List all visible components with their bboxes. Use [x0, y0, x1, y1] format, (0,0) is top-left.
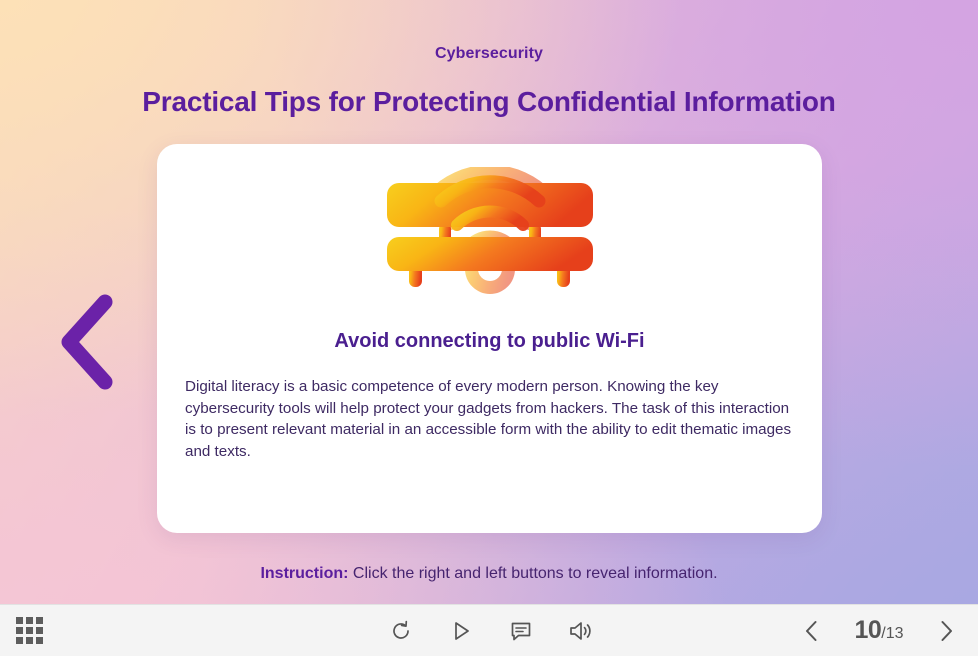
next-slide-button[interactable] [924, 611, 968, 651]
volume-button[interactable] [561, 611, 601, 651]
card-illustration [157, 166, 822, 296]
grid-menu-icon [16, 617, 43, 644]
chevron-left-small-icon [799, 618, 825, 644]
total-pages-number: /13 [881, 625, 903, 642]
instruction-text: Click the right and left buttons to reve… [348, 565, 717, 582]
eyebrow-label: Cybersecurity [0, 45, 978, 63]
card-title: Avoid connecting to public Wi-Fi [157, 330, 822, 353]
replay-button[interactable] [381, 611, 421, 651]
notes-button[interactable] [501, 611, 541, 651]
instruction-line: Instruction: Click the right and left bu… [0, 565, 978, 583]
player-toolbar: 10/13 [0, 604, 978, 656]
public-wifi-bench-icon [379, 167, 601, 295]
content-card: Avoid connecting to public Wi-Fi Digital… [157, 144, 822, 533]
slides-menu-button[interactable] [12, 614, 46, 648]
card-body-text: Digital literacy is a basic competence o… [185, 376, 797, 462]
playback-controls [381, 611, 601, 651]
play-button[interactable] [441, 611, 481, 651]
instruction-label: Instruction: [260, 565, 348, 582]
chevron-left-icon [55, 292, 121, 392]
current-page-number: 10 [854, 616, 881, 644]
prev-slide-button[interactable] [790, 611, 834, 651]
slide-prev-arrow-button[interactable] [55, 292, 121, 392]
speech-bubble-icon [509, 619, 533, 643]
play-icon [449, 619, 473, 643]
replay-icon [389, 619, 413, 643]
page-indicator: 10/13 [836, 616, 922, 645]
volume-icon [568, 619, 594, 643]
slide-stage: Cybersecurity Practical Tips for Protect… [0, 0, 978, 656]
chevron-right-small-icon [933, 618, 959, 644]
pagination-controls: 10/13 [790, 611, 968, 651]
page-title: Practical Tips for Protecting Confidenti… [0, 86, 978, 118]
